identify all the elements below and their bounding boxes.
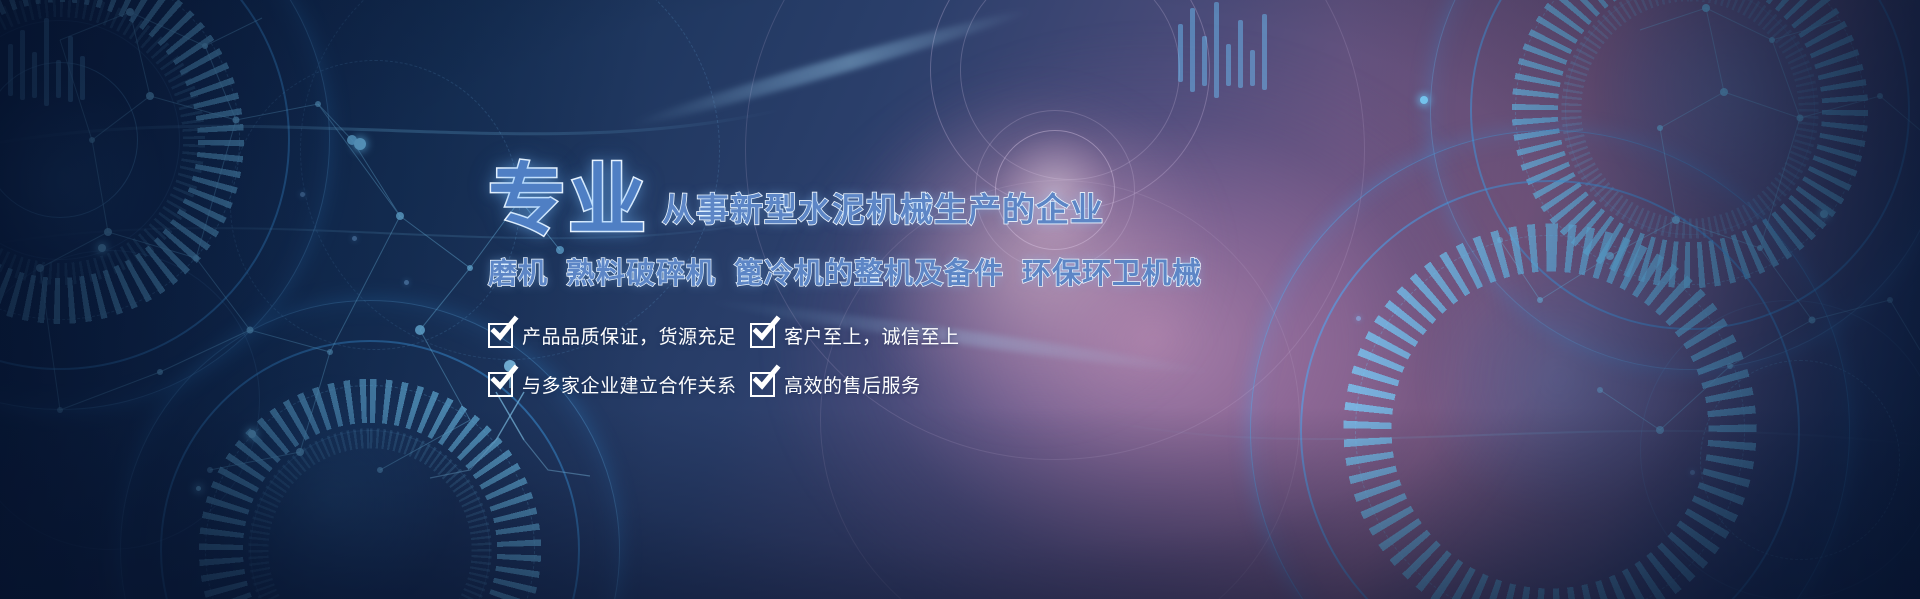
hero-banner: 专业 从事新型水泥机械生产的企业 磨机熟料破碎机篦冷机的整机及备件环保环卫机械 … (0, 0, 1920, 599)
feature-item-1: 产品品质保证，货源充足 (488, 322, 738, 349)
headline-emphasis: 专业 (488, 166, 648, 238)
product-item-2: 熟料破碎机 (566, 256, 716, 290)
check-icon (488, 323, 513, 348)
background-bottom-shade (0, 407, 1920, 599)
check-icon (750, 372, 775, 397)
feature-label: 产品品质保证，货源充足 (522, 322, 737, 349)
product-item-4: 环保环卫机械 (1022, 256, 1202, 290)
feature-label: 与多家企业建立合作关系 (522, 371, 737, 398)
headline: 专业 从事新型水泥机械生产的企业 (488, 150, 1108, 234)
headline-rest: 从事新型水泥机械生产的企业 (662, 193, 1104, 226)
banner-content: 专业 从事新型水泥机械生产的企业 磨机熟料破碎机篦冷机的整机及备件环保环卫机械 … (488, 150, 1108, 398)
feature-item-2: 客户至上，诚信至上 (750, 322, 1108, 349)
product-item-3: 篦冷机的整机及备件 (734, 256, 1004, 290)
check-icon (488, 372, 513, 397)
product-list-line: 磨机熟料破碎机篦冷机的整机及备件环保环卫机械 (488, 250, 1108, 292)
feature-label: 高效的售后服务 (784, 371, 921, 398)
product-item-1: 磨机 (488, 256, 548, 290)
check-icon (750, 323, 775, 348)
feature-list: 产品品质保证，货源充足 客户至上，诚信至上 与多家企业建立合作关系 (488, 322, 1108, 398)
feature-label: 客户至上，诚信至上 (784, 322, 960, 349)
feature-item-4: 高效的售后服务 (750, 371, 1108, 398)
feature-item-3: 与多家企业建立合作关系 (488, 371, 738, 398)
